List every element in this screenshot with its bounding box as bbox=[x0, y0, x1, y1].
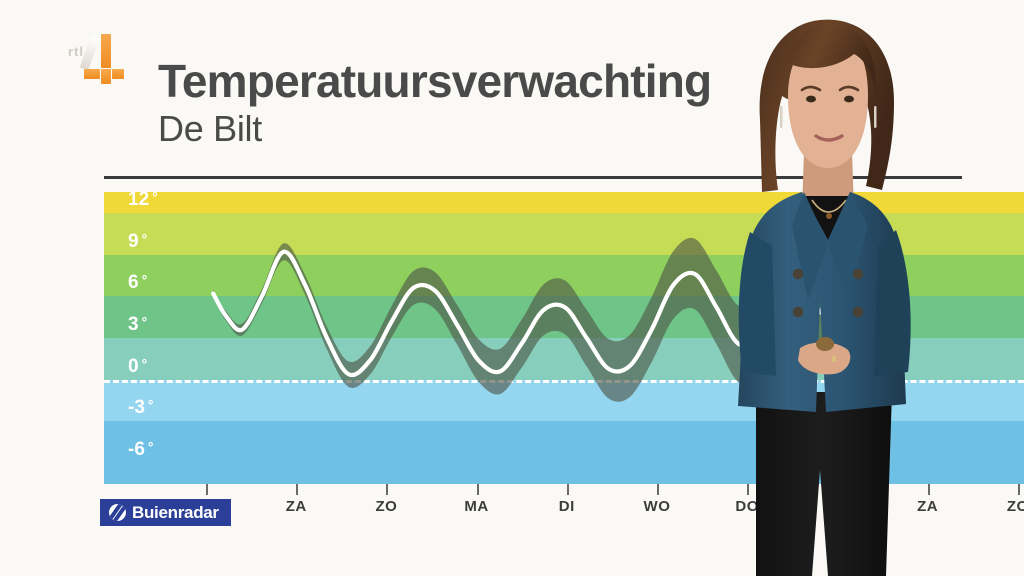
rtl-wordmark: rtl bbox=[68, 44, 84, 59]
x-axis-tick bbox=[206, 484, 208, 495]
x-axis-tick bbox=[296, 484, 298, 495]
y-axis-tick-label: 0° bbox=[128, 356, 147, 378]
rtl-logo-bar-stem bbox=[101, 69, 111, 84]
title-block: Temperatuursverwachting De Bilt bbox=[158, 58, 711, 150]
y-axis-tick-label: 12° bbox=[128, 189, 158, 211]
x-axis-tick bbox=[567, 484, 569, 495]
y-axis-tick-label: -6° bbox=[128, 439, 154, 461]
rtl-logo-bar-vertical bbox=[101, 34, 111, 68]
page-subtitle: De Bilt bbox=[158, 107, 711, 150]
x-axis-tick-label: WO bbox=[644, 498, 671, 515]
weather-broadcast-screen: rtl Temperatuursverwachting De Bilt 12°9… bbox=[0, 0, 1024, 576]
y-axis-tick-label: 9° bbox=[128, 231, 147, 253]
x-axis-tick-label: MA bbox=[464, 498, 488, 515]
x-axis-tick-label: DI bbox=[559, 498, 575, 515]
x-axis-tick-label: ZO bbox=[375, 498, 397, 515]
presenter-figure bbox=[716, 0, 1024, 576]
x-axis-tick bbox=[477, 484, 479, 495]
buienradar-label: Buienradar bbox=[132, 503, 219, 523]
x-axis-tick bbox=[657, 484, 659, 495]
buienradar-badge: Buienradar bbox=[100, 499, 231, 526]
buienradar-icon bbox=[109, 504, 126, 521]
y-axis-tick-label: 3° bbox=[128, 314, 147, 336]
weather-presenter bbox=[716, 0, 1024, 576]
rtl4-logo: rtl bbox=[68, 28, 138, 88]
x-axis-tick bbox=[386, 484, 388, 495]
rtl-logo-bar-right bbox=[112, 69, 124, 79]
x-axis-tick-label: ZA bbox=[286, 498, 307, 515]
page-title: Temperatuursverwachting bbox=[158, 58, 711, 105]
rtl-logo-bar-left bbox=[84, 69, 100, 79]
y-axis-tick-label: 6° bbox=[128, 272, 147, 294]
y-axis-tick-label: -3° bbox=[128, 397, 154, 419]
